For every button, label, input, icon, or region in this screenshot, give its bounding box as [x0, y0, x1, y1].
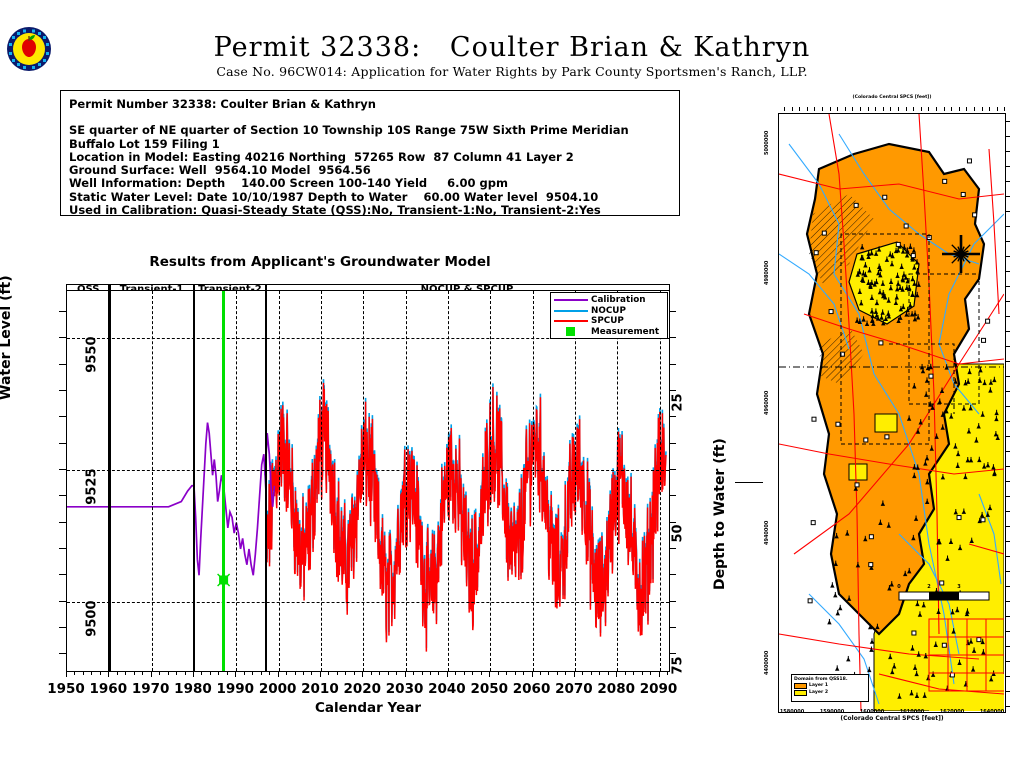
map-top-label: (Colorado Central SPCS [feet]) [852, 95, 931, 100]
map-frame-tick-right [1006, 316, 1010, 317]
x-tick [642, 671, 643, 675]
x-tick [328, 671, 329, 675]
map-frame-tick-top [830, 107, 831, 111]
y-tick-label-left-9550: 9550 [85, 337, 100, 373]
x-tick [168, 671, 169, 675]
map-frame-tick-right [1006, 676, 1010, 677]
section-square [879, 341, 883, 345]
x-tick [506, 671, 507, 675]
map-frame-tick-top [921, 107, 922, 111]
map-frame-tick-top [928, 107, 929, 111]
x-tick [320, 671, 321, 677]
map-frame-tick-right [1006, 361, 1010, 362]
x-tick [472, 671, 473, 675]
x-tick [498, 671, 499, 675]
x-tick [134, 671, 135, 675]
x-tick [218, 671, 219, 675]
x-tick [574, 671, 575, 677]
y-tick-left [59, 548, 66, 549]
y-tick-left [59, 416, 66, 417]
x-tick [193, 671, 194, 677]
map-frame-tick-top [982, 107, 983, 111]
section-square [981, 518, 985, 522]
section-square [904, 224, 908, 228]
legend-label: NOCUP [591, 306, 626, 316]
x-tick [159, 671, 160, 675]
x-gridline-2090 [660, 291, 661, 671]
map-x-tick-3: 1610000 [900, 709, 924, 715]
x-gridline-2080 [617, 291, 618, 671]
y-tick-right [669, 653, 676, 654]
map-frame-tick-right [1006, 481, 1010, 482]
layer2-swatch [794, 690, 807, 697]
map-frame-tick-top [890, 107, 891, 111]
map-frame-tick-top [868, 107, 869, 111]
road-9 [989, 149, 999, 314]
map-frame-tick-top [959, 107, 960, 111]
map-frame-tick-right [1006, 571, 1010, 572]
section-square [942, 643, 946, 647]
x-tick-label-2040: 2040 [428, 681, 466, 697]
x-tick-label-2060: 2060 [513, 681, 551, 697]
x-tick [125, 671, 126, 675]
map-x-tick-5: 1640000 [980, 709, 1004, 715]
y-tick-left [59, 337, 66, 338]
map-scale-bar [899, 592, 989, 600]
map-frame-tick-top [845, 107, 846, 111]
x-tick-label-1950: 1950 [47, 681, 85, 697]
map-frame-tick-top [906, 107, 907, 111]
x-tick [303, 671, 304, 675]
well-marker [846, 656, 850, 661]
map-frame-tick-top [792, 107, 793, 111]
info-line-legal-description: SE quarter of NE quarter of Section 10 T… [69, 124, 671, 137]
y-tick-label-left-9525: 9525 [85, 468, 100, 504]
layer2-label: Layer 2 [809, 690, 828, 695]
layer1-swatch [794, 683, 807, 690]
x-tick [252, 671, 253, 675]
map-frame-tick-right [1006, 691, 1010, 692]
section-square [977, 638, 981, 642]
well-marker [827, 619, 831, 624]
panel-boundary-line-2 [265, 291, 268, 671]
legend-label: Measurement [591, 327, 659, 337]
well-marker [833, 592, 837, 597]
y-tick-left [59, 390, 66, 391]
map-frame-tick-top [944, 107, 945, 111]
x-tick [413, 671, 414, 675]
map-frame-tick-right [1006, 541, 1010, 542]
section-square [869, 535, 873, 539]
y-tick-right [669, 443, 676, 444]
y-tick-right [669, 469, 676, 470]
x-gridline-2060 [533, 291, 534, 671]
map-frame-tick-right [1006, 526, 1010, 527]
legend-line-swatch [554, 299, 588, 301]
y-tick-left [59, 443, 66, 444]
x-tick [100, 671, 101, 675]
x-tick [438, 671, 439, 675]
map-frame-tick-right [1006, 391, 1010, 392]
y-tick-left [59, 364, 66, 365]
x-gridline-1990 [236, 291, 237, 671]
permit-info-box: Permit Number 32338: Coulter Brian & Kat… [60, 90, 680, 216]
x-tick-label-1970: 1970 [132, 681, 170, 697]
chart-legend: CalibrationNOCUPSPCUPMeasurement [550, 292, 668, 339]
y-tick-right [669, 574, 676, 575]
info-line-permit-number: Permit Number 32338: Coulter Brian & Kat… [69, 98, 671, 111]
map-y-tick-1: 4980000 [764, 261, 770, 285]
map-frame-tick-right [1006, 646, 1010, 647]
info-line-ground-surface: Ground Surface: Well 9564.10 Model 9564.… [69, 164, 671, 177]
y-axis-title-right: Depth to Water (ft) [712, 438, 728, 590]
panel-boundary-line-0 [108, 291, 111, 671]
page-subtitle: Case No. 96CW014: Application for Water … [0, 64, 1024, 79]
x-tick [108, 671, 109, 677]
map-frame-tick-right [1006, 286, 1010, 287]
x-gridline-2070 [575, 291, 576, 671]
well-marker [830, 582, 834, 587]
x-tick [210, 671, 211, 675]
x-tick [591, 671, 592, 675]
section-square [986, 319, 990, 323]
section-square [940, 581, 944, 585]
y-tick-right [669, 364, 676, 365]
x-tick [142, 671, 143, 675]
x-tick [633, 671, 634, 675]
x-tick [625, 671, 626, 675]
x-tick [176, 671, 177, 675]
scalebar-tick-0: 0 [897, 584, 901, 590]
well-marker [836, 610, 840, 615]
x-tick-label-1960: 1960 [90, 681, 128, 697]
y-tick-right [669, 522, 676, 523]
x-tick [83, 671, 84, 675]
map-frame-tick-right [1006, 496, 1010, 497]
map-frame-tick-top [898, 107, 899, 111]
x-axis-title: Calendar Year [66, 700, 670, 716]
x-tick-label-1990: 1990 [216, 681, 254, 697]
map-frame-tick-right [1006, 436, 1010, 437]
map-graphic: 023 [779, 114, 1004, 711]
section-square [929, 374, 933, 378]
x-tick [396, 671, 397, 675]
section-square [912, 631, 916, 635]
x-tick [540, 671, 541, 675]
legend-square-swatch [566, 327, 575, 336]
x-tick [269, 671, 270, 675]
y-tick-left [59, 469, 66, 470]
y-tick-right [669, 390, 676, 391]
map-y-tick-0: 5000000 [764, 131, 770, 155]
map-x-tick-0: 1580000 [780, 709, 804, 715]
section-square [864, 438, 868, 442]
x-tick-label-2050: 2050 [470, 681, 508, 697]
x-tick [91, 671, 92, 675]
x-gridline-2010 [321, 291, 322, 671]
section-square [896, 242, 900, 246]
y-tick-right [669, 416, 676, 417]
info-line-well-information: Well Information: Depth 140.00 Screen 10… [69, 177, 671, 190]
map-frame-tick-top [989, 107, 990, 111]
x-tick [405, 671, 406, 677]
map-frame-tick-top [974, 107, 975, 111]
map-y-tick-3: 4940000 [764, 521, 770, 545]
map-frame-tick-right [1006, 271, 1010, 272]
y-tick-left [59, 311, 66, 312]
map-callout-line [735, 482, 763, 483]
map-x-axis-title: (Colorado Central SPCS [feet]) [778, 715, 1006, 722]
info-line-model-location: Location in Model: Easting 40216 Northin… [69, 151, 671, 164]
x-gridline-2030 [406, 291, 407, 671]
map-frame-tick-right [1006, 181, 1010, 182]
y-tick-right [669, 495, 676, 496]
section-square [808, 599, 812, 603]
x-tick-label-2070: 2070 [555, 681, 593, 697]
map-x-tick-2: 1600000 [860, 709, 884, 715]
map-frame-tick-top [951, 107, 952, 111]
x-tick [66, 671, 67, 677]
y-gridline-9500 [67, 602, 669, 603]
map-frame-tick-right [1006, 601, 1010, 602]
map-frame-tick-right [1006, 421, 1010, 422]
x-tick [599, 671, 600, 675]
x-tick [151, 671, 152, 677]
map-frame-tick-right [1006, 376, 1010, 377]
map-legend-item-layer2: Layer 2 [794, 690, 866, 697]
map-frame-tick-top [966, 107, 967, 111]
chart-plot-area: CalibrationNOCUPSPCUPMeasurement [66, 290, 670, 672]
x-tick-label-2010: 2010 [301, 681, 339, 697]
section-square [883, 195, 887, 199]
section-square [982, 338, 986, 342]
map-frame-tick-top [936, 107, 937, 111]
x-tick [117, 671, 118, 675]
x-tick [337, 671, 338, 675]
x-tick [430, 671, 431, 675]
section-square [814, 251, 818, 255]
x-tick-label-2000: 2000 [259, 681, 297, 697]
x-tick [447, 671, 448, 677]
y-tick-label-right-25: 25 [671, 393, 686, 411]
x-tick [201, 671, 202, 675]
section-square [950, 673, 954, 677]
x-tick [74, 671, 75, 675]
x-tick [354, 671, 355, 675]
x-tick [422, 671, 423, 675]
y-tick-left [59, 627, 66, 628]
x-tick [616, 671, 617, 677]
section-square [961, 192, 965, 196]
map-frame-tick-right [1006, 136, 1010, 137]
map-frame-tick-right [1006, 121, 1010, 122]
map-x-tick-1: 1590000 [820, 709, 844, 715]
x-gridline-2040 [448, 291, 449, 671]
map-frame-tick-right [1006, 346, 1010, 347]
scalebar-tick-1: 2 [927, 584, 931, 590]
x-tick [548, 671, 549, 675]
map-frame-tick-top [837, 107, 838, 111]
y-tick-right [669, 627, 676, 628]
map-frame-tick-right [1006, 301, 1010, 302]
x-gridline-2050 [490, 291, 491, 671]
section-square [967, 159, 971, 163]
site-location-map: 023 Domain from QSS18. Layer 1 Layer 2 (… [760, 95, 1018, 735]
map-legend: Domain from QSS18. Layer 1 Layer 2 [791, 674, 869, 702]
section-square [829, 310, 833, 314]
x-tick-label-2090: 2090 [640, 681, 678, 697]
section-square [943, 179, 947, 183]
map-frame-tick-right [1006, 466, 1010, 467]
info-line-subdivision: Buffalo Lot 159 Filing 1 [69, 138, 671, 151]
map-frame-tick-right [1006, 256, 1010, 257]
map-frame-tick-right [1006, 616, 1010, 617]
spcup-series [266, 383, 666, 652]
section-square [885, 435, 889, 439]
map-frame-tick-right [1006, 406, 1010, 407]
legend-label: SPCUP [591, 316, 624, 326]
legend-item-calibration: Calibration [554, 295, 664, 306]
map-frame-tick-top [822, 107, 823, 111]
section-square [822, 231, 826, 235]
legend-item-measurement: Measurement [554, 327, 664, 338]
x-tick [650, 671, 651, 675]
measurement-year-line [222, 291, 226, 671]
map-frame-tick-top [799, 107, 800, 111]
section-square [957, 516, 961, 520]
x-tick [235, 671, 236, 677]
x-tick [379, 671, 380, 675]
map-frame-tick-right [1006, 166, 1010, 167]
x-gridline-1970 [152, 291, 153, 671]
legend-item-nocup: NOCUP [554, 306, 664, 317]
y-tick-left [59, 653, 66, 654]
x-tick [608, 671, 609, 675]
info-line-static-water-level: Static Water Level: Date 10/10/1987 Dept… [69, 191, 671, 204]
chart-series-svg [67, 291, 668, 670]
y-tick-label-left-9500: 9500 [85, 600, 100, 636]
x-tick [227, 671, 228, 675]
y-tick-left [59, 522, 66, 523]
map-frame-tick-top [814, 107, 815, 111]
section-square [911, 254, 915, 258]
x-tick [532, 671, 533, 677]
map-frame-tick-top [913, 107, 914, 111]
page-title: Permit 32338: Coulter Brian & Kathryn [0, 32, 1024, 63]
map-frame-tick-right [1006, 211, 1010, 212]
section-square [854, 203, 858, 207]
map-x-tick-4: 1620000 [940, 709, 964, 715]
y-tick-right [669, 337, 676, 338]
x-tick [261, 671, 262, 675]
map-frame-tick-right [1006, 586, 1010, 587]
x-tick [286, 671, 287, 675]
map-frame-tick-top [807, 107, 808, 111]
x-tick [565, 671, 566, 675]
y-tick-right [669, 311, 676, 312]
legend-line-swatch [554, 320, 588, 322]
section-square [973, 213, 977, 217]
y-gridline-9525 [67, 470, 669, 471]
legend-line-swatch [554, 310, 588, 312]
layer1-label: Layer 1 [809, 683, 828, 688]
section-square [836, 422, 840, 426]
map-frame-tick-right [1006, 151, 1010, 152]
map-frame-tick-top [883, 107, 884, 111]
x-tick [278, 671, 279, 677]
x-tick [464, 671, 465, 675]
map-frame-tick-top [997, 107, 998, 111]
map-frame-tick-top [1004, 107, 1005, 111]
legend-item-spcup: SPCUP [554, 316, 664, 327]
x-tick-label-1980: 1980 [174, 681, 212, 697]
x-gridline-2000 [279, 291, 280, 671]
well-marker [835, 665, 839, 670]
section-square [812, 417, 816, 421]
map-frame-tick-right [1006, 331, 1010, 332]
map-frame-tick-right [1006, 196, 1010, 197]
y-tick-label-right-50: 50 [671, 525, 686, 543]
chart-title: Results from Applicant's Groundwater Mod… [0, 254, 640, 270]
x-tick [311, 671, 312, 675]
map-frame-tick-right [1006, 241, 1010, 242]
panel-boundary-line-1 [193, 291, 196, 671]
map-frame-tick-top [852, 107, 853, 111]
x-tick [345, 671, 346, 675]
map-frame-tick-right [1006, 631, 1010, 632]
x-tick-label-2080: 2080 [597, 681, 635, 697]
well-marker [838, 605, 842, 610]
map-frame-tick-right [1006, 661, 1010, 662]
y-tick-left [59, 601, 66, 602]
groundwater-model-chart: Results from Applicant's Groundwater Mod… [0, 250, 700, 720]
x-gridline-2020 [363, 291, 364, 671]
x-tick [659, 671, 660, 677]
section-square [869, 563, 873, 567]
map-y-tick-2: 4960000 [764, 391, 770, 415]
map-frame-tick-top [875, 107, 876, 111]
scalebar-tick-2: 3 [957, 584, 961, 590]
map-frame-tick-top [784, 107, 785, 111]
x-tick [388, 671, 389, 675]
map-frame: 023 Domain from QSS18. Layer 1 Layer 2 [778, 113, 1006, 713]
legend-label: Calibration [591, 295, 646, 305]
y-axis-title-left: Water Level (ft) [0, 275, 14, 400]
x-tick [515, 671, 516, 675]
map-frame-tick-top [860, 107, 861, 111]
y-tick-left [59, 495, 66, 496]
map-legend-title: Domain from QSS18. [794, 677, 866, 682]
x-tick-label-2030: 2030 [386, 681, 424, 697]
x-tick [244, 671, 245, 675]
map-frame-tick-right [1006, 556, 1010, 557]
x-tick [489, 671, 490, 677]
y-tick-label-right-75: 75 [671, 656, 686, 674]
map-frame-tick-right [1006, 451, 1010, 452]
x-tick [481, 671, 482, 675]
y-tick-right [669, 601, 676, 602]
map-frame-tick-right [1006, 511, 1010, 512]
x-tick [582, 671, 583, 675]
x-tick [185, 671, 186, 675]
x-tick [295, 671, 296, 675]
section-square [811, 521, 815, 525]
x-tick [557, 671, 558, 675]
y-tick-left [59, 574, 66, 575]
x-tick [371, 671, 372, 675]
map-frame-tick-right [1006, 706, 1010, 707]
section-square [855, 483, 859, 487]
